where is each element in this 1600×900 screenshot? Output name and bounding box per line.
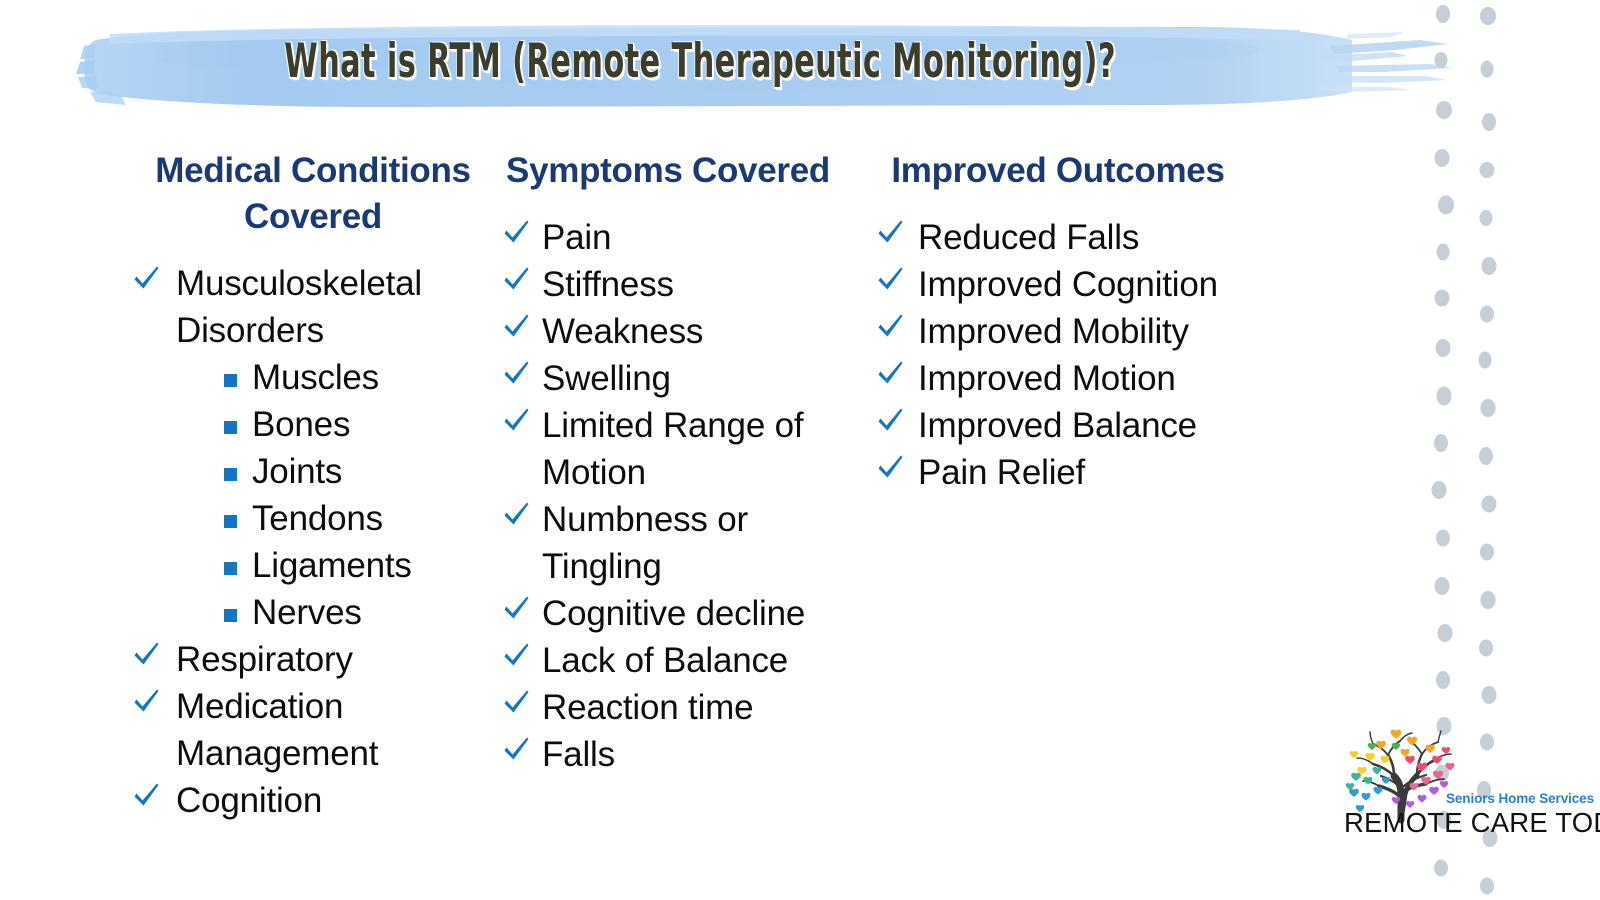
list-item[interactable]: Respiratory [128, 636, 490, 683]
check-icon [132, 638, 162, 672]
check-icon [876, 310, 906, 344]
list-item-label: Musculoskeletal Disorders [176, 264, 422, 350]
list-item[interactable]: Improved Mobility [872, 308, 1310, 355]
list-item-label: Numbness or Tingling [542, 500, 748, 586]
list-item[interactable]: Falls [498, 731, 850, 778]
list-item-label: Muscles [252, 358, 379, 397]
check-icon [502, 639, 532, 673]
list-item[interactable]: Reduced Falls [872, 214, 1310, 261]
list-item[interactable]: Reaction time [498, 684, 850, 731]
list-item[interactable]: Ligaments [220, 542, 490, 589]
check-icon [876, 451, 906, 485]
logo[interactable]: Seniors Home Services REMOTE CARE TODAY [1338, 728, 1590, 856]
column-heading-symptoms: Symptoms Covered [494, 148, 842, 194]
list-item[interactable]: Medication Management [128, 683, 490, 777]
list-item[interactable]: Numbness or Tingling [498, 496, 850, 590]
check-icon [502, 592, 532, 626]
logo-tagline: Seniors Home Services [1446, 791, 1594, 806]
square-bullet-icon [224, 562, 237, 575]
list-item-label: Respiratory [176, 640, 353, 679]
check-icon [132, 262, 162, 296]
check-icon [502, 263, 532, 297]
list-medical-conditions: Musculoskeletal Disorders Muscles Bones [128, 260, 490, 824]
list-item-label: Lack of Balance [542, 641, 788, 680]
list-item-label: Bones [252, 405, 350, 444]
list-item[interactable]: Musculoskeletal Disorders Muscles Bones [128, 260, 490, 636]
square-bullet-icon [224, 468, 237, 481]
list-item[interactable]: Lack of Balance [498, 637, 850, 684]
logo-wordmark: REMOTE CARE TODAY [1344, 807, 1600, 839]
list-item[interactable]: Improved Cognition [872, 261, 1310, 308]
check-icon [132, 685, 162, 719]
list-item[interactable]: Weakness [498, 308, 850, 355]
column-heading-medical-conditions: Medical Conditions Covered [122, 148, 504, 240]
check-icon [876, 263, 906, 297]
list-item[interactable]: Cognition [128, 777, 490, 824]
square-bullet-icon [224, 374, 237, 387]
title-banner: What is RTM (Remote Therapeutic Monitori… [0, 10, 1460, 120]
square-bullet-icon [224, 515, 237, 528]
list-item-label: Ligaments [252, 546, 412, 585]
column-medical-conditions: Medical Conditions Covered Musculoskelet… [0, 148, 490, 824]
list-item-label: Improved Motion [918, 359, 1176, 398]
list-item-label: Tendons [252, 499, 383, 538]
square-bullet-icon [224, 609, 237, 622]
check-icon [876, 216, 906, 250]
list-item-label: Weakness [542, 312, 703, 351]
list-item[interactable]: Bones [220, 401, 490, 448]
column-heading-improved-outcomes: Improved Outcomes [868, 148, 1248, 194]
column-symptoms: Symptoms Covered Pain Stiffness [490, 148, 850, 778]
list-item[interactable]: Pain [498, 214, 850, 261]
list-item[interactable]: Muscles [220, 354, 490, 401]
check-icon [502, 686, 532, 720]
list-item[interactable]: Limited Range of Motion [498, 402, 850, 496]
list-improved-outcomes: Reduced Falls Improved Cognition Improve… [872, 214, 1310, 496]
slide-canvas: What is RTM (Remote Therapeutic Monitori… [0, 0, 1600, 900]
square-bullet-icon [224, 421, 237, 434]
list-item[interactable]: Tendons [220, 495, 490, 542]
list-item[interactable]: Cognitive decline [498, 590, 850, 637]
page-title: What is RTM (Remote Therapeutic Monitori… [196, 34, 1204, 89]
list-item[interactable]: Nerves [220, 589, 490, 636]
check-icon [502, 216, 532, 250]
column-improved-outcomes: Improved Outcomes Reduced Falls Improved… [850, 148, 1310, 496]
list-item-label: Pain [542, 218, 611, 257]
list-item-label: Improved Cognition [918, 265, 1218, 304]
list-item-label: Pain Relief [918, 453, 1085, 492]
list-item[interactable]: Improved Balance [872, 402, 1310, 449]
check-icon [502, 404, 532, 438]
list-item-label: Stiffness [542, 265, 674, 304]
list-item-label: Falls [542, 735, 615, 774]
list-item-label: Limited Range of Motion [542, 406, 803, 492]
check-icon [876, 404, 906, 438]
list-item-label: Improved Balance [918, 406, 1197, 445]
list-item-label: Joints [252, 452, 342, 491]
list-item-label: Nerves [252, 593, 362, 632]
list-item[interactable]: Swelling [498, 355, 850, 402]
list-item-label: Reduced Falls [918, 218, 1139, 257]
list-item-label: Cognition [176, 781, 322, 820]
list-item[interactable]: Pain Relief [872, 449, 1310, 496]
list-symptoms: Pain Stiffness Weakness [498, 214, 850, 778]
check-icon [502, 357, 532, 391]
check-icon [502, 733, 532, 767]
list-item[interactable]: Stiffness [498, 261, 850, 308]
check-icon [502, 498, 532, 532]
content-columns: Medical Conditions Covered Musculoskelet… [0, 148, 1420, 888]
check-icon [876, 357, 906, 391]
list-item-label: Cognitive decline [542, 594, 805, 633]
list-item-label: Improved Mobility [918, 312, 1189, 351]
check-icon [502, 310, 532, 344]
list-item-label: Reaction time [542, 688, 753, 727]
sublist-musculoskeletal: Muscles Bones Joints Tendons [176, 354, 490, 636]
list-item-label: Swelling [542, 359, 671, 398]
list-item[interactable]: Improved Motion [872, 355, 1310, 402]
list-item[interactable]: Joints [220, 448, 490, 495]
check-icon [132, 779, 162, 813]
list-item-label: Medication Management [176, 687, 378, 773]
